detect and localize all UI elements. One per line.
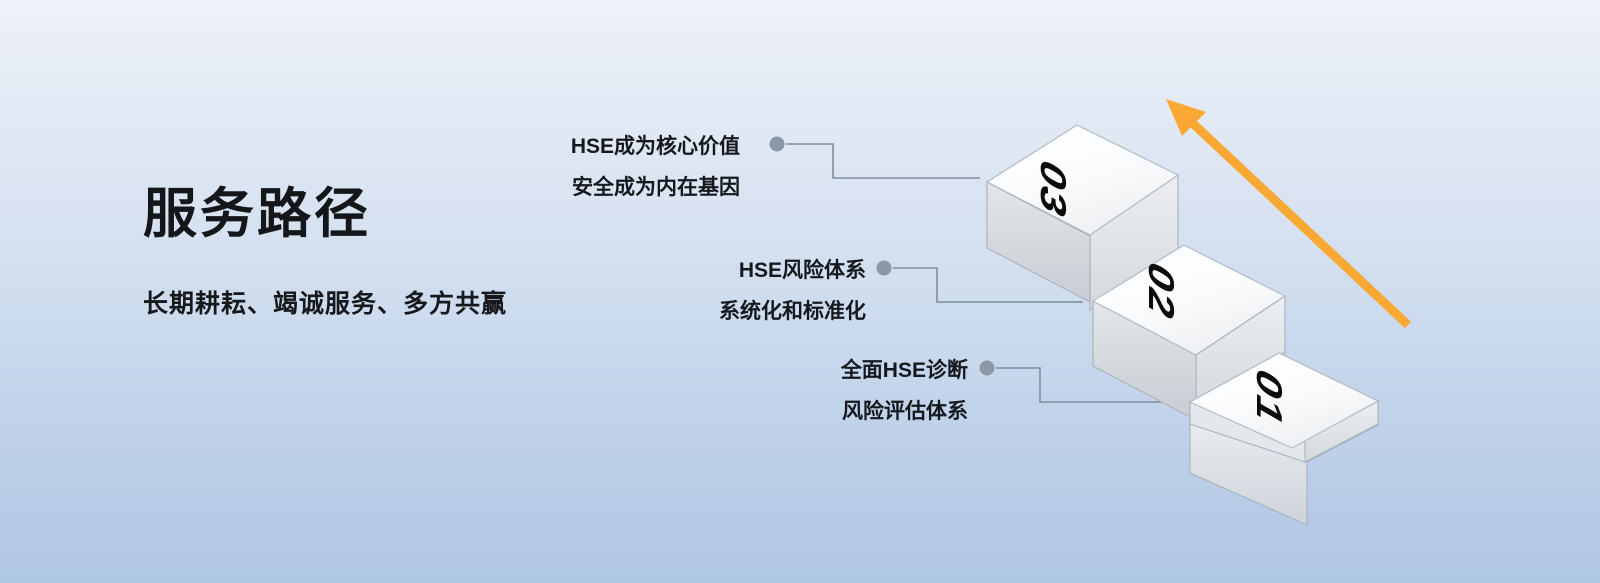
connector-dot-01: [980, 361, 995, 376]
step-caption-02-line1: HSE风险体系: [546, 250, 866, 291]
step-caption-02-line2: 系统化和标准化: [546, 291, 866, 332]
step-caption-01-line2: 风险评估体系: [648, 391, 968, 432]
connector-step-03: [770, 137, 981, 179]
step-caption-03: HSE成为核心价值 安全成为内在基因: [420, 126, 740, 208]
step-caption-02: HSE风险体系 系统化和标准化: [546, 250, 866, 332]
step-caption-03-line1: HSE成为核心价值: [420, 126, 740, 167]
step-caption-01-line1: 全面HSE诊断: [648, 350, 968, 391]
step-caption-03-line2: 安全成为内在基因: [420, 167, 740, 208]
connector-dot-02: [877, 261, 892, 276]
step-caption-01: 全面HSE诊断 风险评估体系: [648, 350, 968, 432]
connector-dot-03: [770, 137, 785, 152]
slide-canvas: 服务路径 长期耕耘、竭诚服务、多方共赢: [0, 0, 1600, 583]
